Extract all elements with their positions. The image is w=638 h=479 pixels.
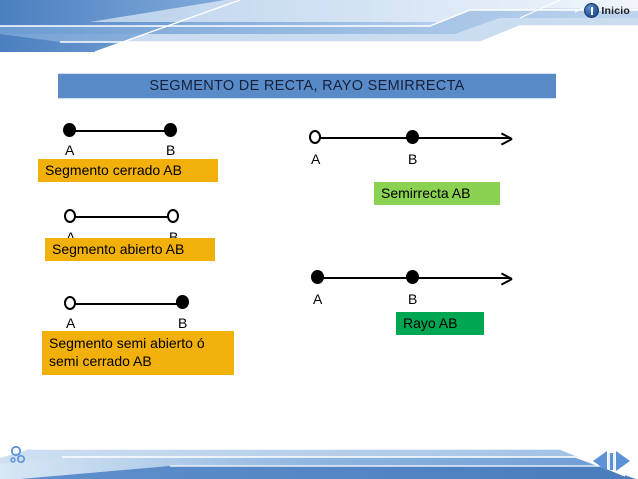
point-a-label: A	[66, 316, 75, 330]
segment-line	[74, 216, 174, 218]
top-decorative-banner	[0, 0, 638, 52]
endpoint-a-open	[309, 130, 321, 144]
caption-segmento-semi-abierto: Segmento semi abierto ó semi cerrado AB	[42, 331, 234, 375]
segment-line	[70, 130, 174, 132]
page-title: SEGMENTO DE RECTA, RAYO SEMIRRECTA	[149, 78, 464, 94]
endpoint-b-filled	[406, 130, 419, 144]
caption-semirrecta: Semirrecta AB	[374, 182, 500, 205]
point-a-label: A	[65, 143, 74, 157]
segment-line	[74, 303, 182, 305]
figure-rayo: A B	[305, 265, 520, 310]
slide-navigation[interactable]	[593, 451, 630, 471]
caption-text: Rayo AB	[403, 315, 457, 333]
endpoint-a-open	[64, 209, 76, 223]
info-circle-icon	[584, 3, 599, 18]
point-b-label: B	[408, 152, 417, 166]
figure-semirrecta: A B	[305, 126, 520, 171]
endpoint-b-filled	[406, 270, 419, 284]
caption-text-line-1: Segmento semi abierto ó	[49, 335, 205, 353]
decorative-bubbles-icon	[8, 445, 30, 467]
endpoint-b-filled	[164, 123, 177, 137]
caption-rayo: Rayo AB	[396, 312, 484, 335]
point-a-label: A	[313, 292, 322, 306]
endpoint-a-filled	[311, 270, 324, 284]
endpoint-b-open	[167, 209, 179, 223]
point-b-label: B	[408, 292, 417, 306]
home-button[interactable]: Inicio	[584, 3, 630, 18]
point-b-label: B	[166, 143, 175, 157]
previous-slide-icon[interactable]	[593, 451, 607, 471]
caption-segmento-abierto: Segmento abierto AB	[45, 238, 215, 261]
endpoint-b-filled	[176, 295, 189, 309]
endpoint-a-open	[64, 296, 76, 310]
nav-divider-icon	[608, 453, 615, 470]
caption-text: Semirrecta AB	[381, 185, 470, 203]
caption-text-line-2: semi cerrado AB	[49, 353, 152, 371]
caption-text: Segmento abierto AB	[52, 241, 184, 259]
bottom-decorative-banner	[0, 424, 638, 479]
endpoint-a-filled	[63, 123, 76, 137]
slide-title-bar: SEGMENTO DE RECTA, RAYO SEMIRRECTA	[58, 73, 556, 99]
caption-segmento-cerrado: Segmento cerrado AB	[38, 159, 218, 182]
slide-canvas: Inicio SEGMENTO DE RECTA, RAYO SEMIRRECT…	[0, 0, 638, 479]
home-button-label: Inicio	[601, 5, 630, 17]
point-a-label: A	[311, 152, 320, 166]
next-slide-icon[interactable]	[616, 451, 630, 471]
caption-text: Segmento cerrado AB	[45, 162, 182, 180]
point-b-label: B	[178, 316, 187, 330]
